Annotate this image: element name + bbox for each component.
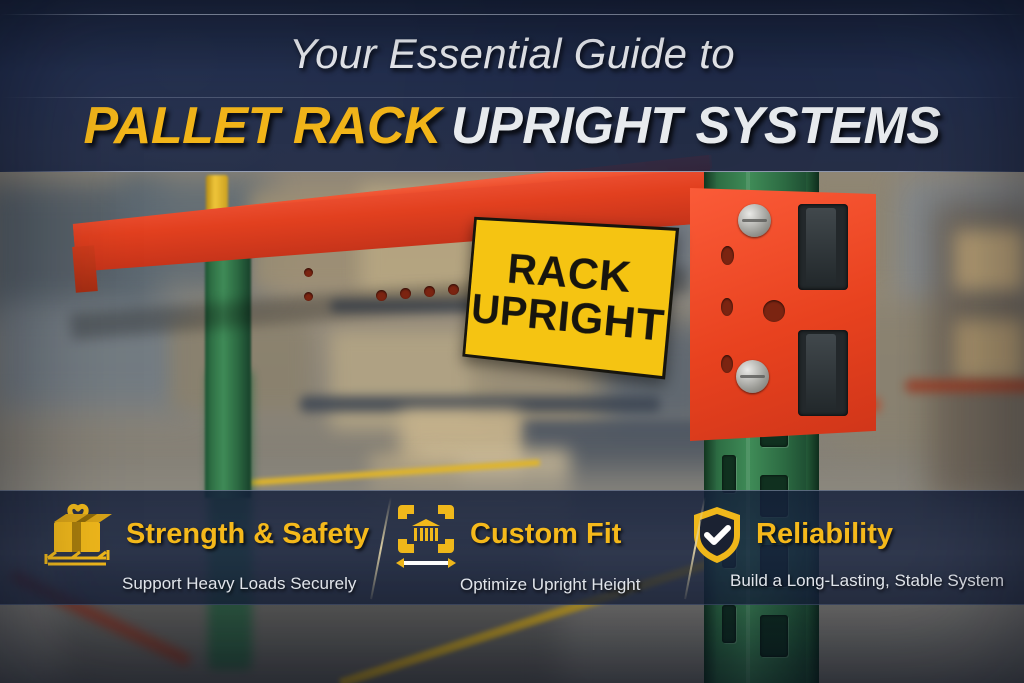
feature-subtitle: Optimize Upright Height <box>460 575 672 595</box>
feature-title: Custom Fit <box>470 518 621 551</box>
sign-line-2: UPRIGHT <box>470 288 666 348</box>
rack-upright-sign: RACK UPRIGHT <box>462 217 679 380</box>
feature-title: Reliability <box>756 518 893 551</box>
crop-frame-warehouse-icon <box>394 501 458 569</box>
banner-headline: PALLET RACKUPRIGHT SYSTEMS <box>0 96 1024 156</box>
feature-item-reliability[interactable]: Reliability Build a Long-Lasting, Stable… <box>672 490 1024 605</box>
feature-item-strength-safety[interactable]: Strength & Safety Support Heavy Loads Se… <box>0 490 372 605</box>
feature-item-custom-fit[interactable]: Custom Fit Optimize Upright Height <box>372 490 672 605</box>
pallet-box-icon <box>42 502 114 568</box>
feature-title: Strength & Safety <box>126 518 369 551</box>
banner-bottom-rule <box>0 171 1024 172</box>
feature-subtitle: Build a Long-Lasting, Stable System <box>730 571 1024 591</box>
headline-rest: UPRIGHT SYSTEMS <box>451 97 940 155</box>
bottom-fade <box>0 605 1024 683</box>
headline-highlight: PALLET RACK <box>84 97 442 155</box>
infographic-banner: RACK UPRIGHT Your Essential Guide to PAL… <box>0 0 1024 683</box>
feature-subtitle: Support Heavy Loads Securely <box>122 574 372 594</box>
plate-bolt-bottom <box>736 360 769 393</box>
plate-bolt-top <box>738 204 771 237</box>
banner-top-rule <box>0 14 1024 15</box>
banner-kicker: Your Essential Guide to <box>0 30 1024 78</box>
